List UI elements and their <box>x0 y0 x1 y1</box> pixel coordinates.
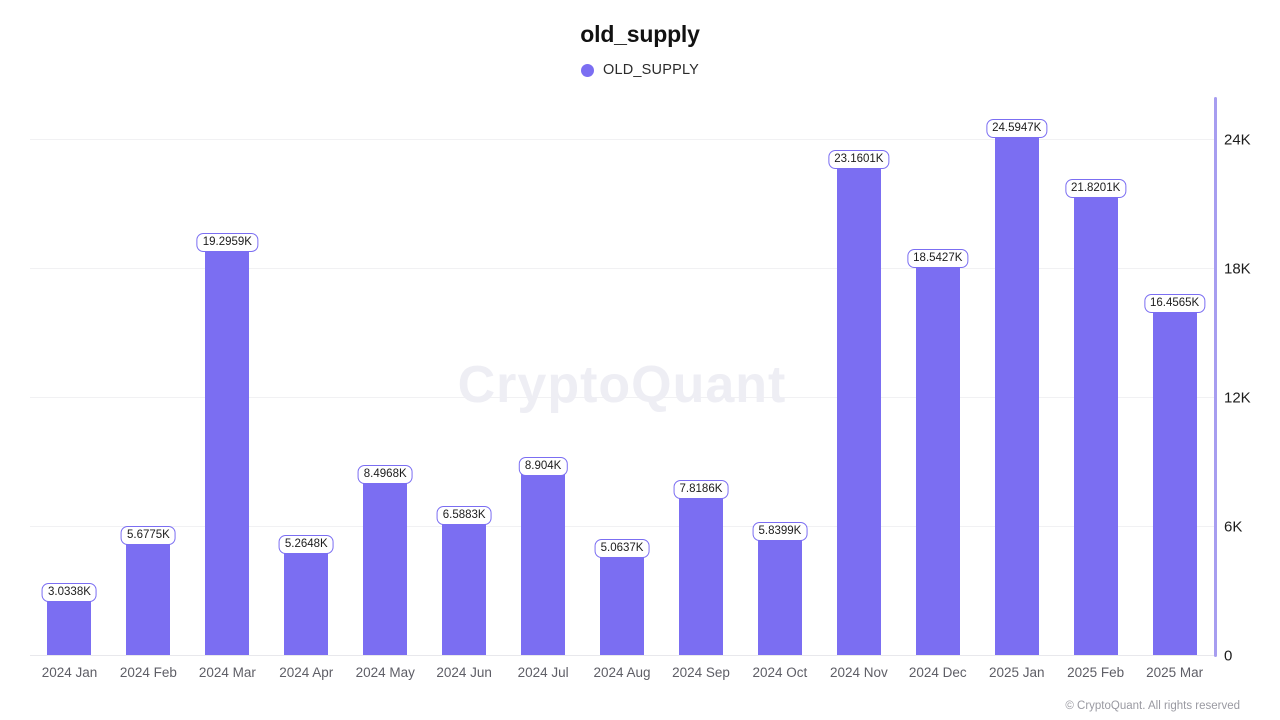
x-axis-tick-label: 2024 Aug <box>583 665 662 680</box>
x-axis-tick-label: 2024 Dec <box>898 665 977 680</box>
page-title: old_supply <box>0 21 1280 48</box>
bar[interactable]: 7.8186K <box>679 488 723 656</box>
y-axis-tick-label: 12K <box>1224 390 1251 407</box>
x-axis-tick-label: 2024 Apr <box>267 665 346 680</box>
x-axis-tick-label: 2024 Oct <box>740 665 819 680</box>
bar[interactable]: 16.4565K <box>1153 302 1197 656</box>
bar-value-label: 8.4968K <box>358 465 413 484</box>
bar[interactable]: 18.5427K <box>916 257 960 656</box>
x-axis-tick-label: 2024 May <box>346 665 425 680</box>
bar[interactable]: 6.5883K <box>442 514 486 656</box>
y-axis-tick-label: 6K <box>1224 519 1242 536</box>
bar-value-label: 24.5947K <box>986 119 1047 138</box>
bar-value-label: 23.1601K <box>828 150 889 169</box>
x-axis-tick-label: 2024 Jul <box>504 665 583 680</box>
y-axis-ticks: 06K12K18K24K <box>1224 97 1280 657</box>
x-axis-tick-label: 2025 Mar <box>1135 665 1214 680</box>
x-axis-tick-label: 2024 Jun <box>425 665 504 680</box>
copyright-footer: © CryptoQuant. All rights reserved <box>1065 700 1240 712</box>
bar-slot: 8.904K <box>504 97 583 656</box>
x-axis-tick-label: 2024 Jan <box>30 665 109 680</box>
chart-legend: OLD_SUPPLY <box>0 62 1280 78</box>
bar-value-label: 5.2648K <box>279 535 334 554</box>
bar[interactable]: 5.0637K <box>600 547 644 656</box>
bar[interactable]: 5.8399K <box>758 530 802 656</box>
bar-value-label: 7.8186K <box>674 480 729 499</box>
y-axis-tick-label: 0 <box>1224 648 1232 665</box>
legend-dot-icon <box>581 64 594 77</box>
bar[interactable]: 5.2648K <box>284 543 328 656</box>
bar[interactable]: 23.1601K <box>837 158 881 656</box>
bar-slot: 21.8201K <box>1056 97 1135 656</box>
bar-slot: 6.5883K <box>425 97 504 656</box>
bar-value-label: 5.8399K <box>752 522 807 541</box>
bar-value-label: 18.5427K <box>907 249 968 268</box>
bar-slot: 7.8186K <box>662 97 741 656</box>
x-axis-tick-label: 2024 Mar <box>188 665 267 680</box>
bar[interactable]: 5.6775K <box>126 534 170 656</box>
bar-slot: 3.0338K <box>30 97 109 656</box>
bar-value-label: 3.0338K <box>42 583 97 602</box>
bar-value-label: 21.8201K <box>1065 179 1126 198</box>
x-axis-tick-label: 2024 Feb <box>109 665 188 680</box>
y-axis-tick-label: 18K <box>1224 261 1251 278</box>
bar-slot: 5.6775K <box>109 97 188 656</box>
y-axis-tick-label: 24K <box>1224 132 1251 149</box>
bar[interactable]: 8.4968K <box>363 473 407 656</box>
x-axis-line <box>30 655 1214 656</box>
y-axis-line <box>1214 97 1217 657</box>
bar[interactable]: 21.8201K <box>1074 187 1118 656</box>
bar-group: 3.0338K5.6775K19.2959K5.2648K8.4968K6.58… <box>30 97 1214 656</box>
bar[interactable]: 8.904K <box>521 465 565 656</box>
bar-value-label: 16.4565K <box>1144 294 1205 313</box>
bar-value-label: 5.6775K <box>121 526 176 545</box>
bar-slot: 5.2648K <box>267 97 346 656</box>
bar-value-label: 8.904K <box>519 457 567 476</box>
bar-value-label: 6.5883K <box>437 506 492 525</box>
bar[interactable]: 24.5947K <box>995 127 1039 656</box>
bar-slot: 19.2959K <box>188 97 267 656</box>
x-axis-tick-label: 2025 Jan <box>977 665 1056 680</box>
bar-slot: 5.8399K <box>740 97 819 656</box>
legend-item-label: OLD_SUPPLY <box>603 62 699 78</box>
bar-slot: 5.0637K <box>583 97 662 656</box>
bar-slot: 24.5947K <box>977 97 1056 656</box>
bar-value-label: 19.2959K <box>197 233 258 252</box>
bar[interactable]: 3.0338K <box>47 591 91 656</box>
plot-area: CryptoQuant 3.0338K5.6775K19.2959K5.2648… <box>30 97 1214 656</box>
bar-slot: 16.4565K <box>1135 97 1214 656</box>
bar[interactable]: 19.2959K <box>205 241 249 656</box>
x-axis-tick-label: 2024 Sep <box>662 665 741 680</box>
x-axis-tick-label: 2025 Feb <box>1056 665 1135 680</box>
chart-container: old_supply OLD_SUPPLY CryptoQuant 3.0338… <box>0 0 1280 720</box>
bar-slot: 8.4968K <box>346 97 425 656</box>
bar-slot: 23.1601K <box>819 97 898 656</box>
x-axis-tick-label: 2024 Nov <box>819 665 898 680</box>
bar-value-label: 5.0637K <box>595 539 650 558</box>
x-axis-ticks: 2024 Jan2024 Feb2024 Mar2024 Apr2024 May… <box>30 665 1214 687</box>
bar-slot: 18.5427K <box>898 97 977 656</box>
